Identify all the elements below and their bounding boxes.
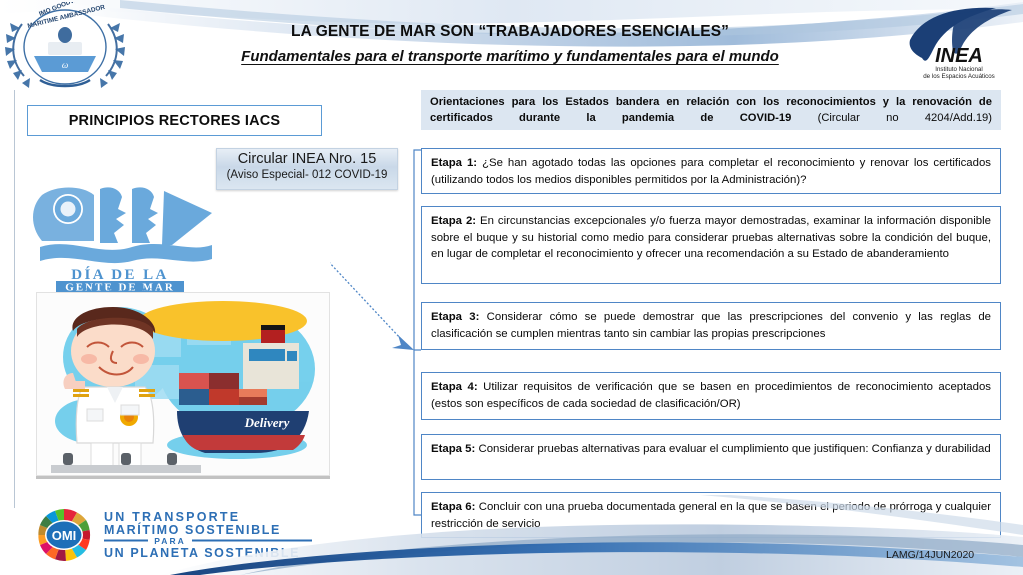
omi-line2: MARÍTIMO SOSTENIBLE	[104, 522, 281, 537]
etapa-text-6: Concluir con una prueba documentada gene…	[431, 501, 991, 530]
connector-arrow	[330, 145, 425, 545]
ship-name-label: Delivery	[244, 415, 290, 430]
orientaciones-banner: Orientaciones para los Estados bandera e…	[421, 90, 1001, 130]
omi-line3: PARA	[154, 536, 185, 546]
etapa-text-1: ¿Se han agotado todas las opciones para …	[431, 157, 991, 186]
principios-rectores-iacs-label: PRINCIPIOS RECTORES IACS	[69, 113, 281, 129]
etapa-label-4: Etapa 4:	[431, 381, 478, 393]
header-title-block: LA GENTE DE MAR SON “TRABAJADORES ESENCI…	[170, 22, 850, 67]
dia-logo-line1: DÍA DE LA	[71, 266, 168, 283]
svg-text:MARITIME AMBASSADOR: MARITIME AMBASSADOR	[27, 4, 106, 30]
banner-plain-text: (Circular no 4204/Add.19)	[818, 112, 992, 124]
principios-rectores-iacs-box: PRINCIPIOS RECTORES IACS	[27, 105, 322, 136]
left-divider	[14, 90, 15, 508]
etapa-label-5: Etapa 5:	[431, 443, 475, 455]
etapa-text-3: Considerar cómo se puede demostrar que l…	[431, 311, 991, 340]
etapa-box-4: Etapa 4: Utilizar requisitos de verifica…	[421, 372, 1001, 420]
omi-line1: UN TRANSPORTE	[104, 510, 240, 524]
footer-note: LAMG/14JUN2020	[886, 549, 974, 561]
svg-text:Instituto Nacional: Instituto Nacional	[935, 66, 982, 73]
etapa-box-1: Etapa 1: ¿Se han agotado todas las opcio…	[421, 148, 1001, 194]
svg-text:de los Espacios Acuáticos: de los Espacios Acuáticos	[923, 73, 995, 80]
etapa-text-4: Utilizar requisitos de verificación que …	[431, 381, 991, 410]
circular-inea-title: Circular INEA Nro. 15	[217, 151, 397, 168]
omi-acronym: OMI	[52, 528, 77, 543]
page-title: LA GENTE DE MAR SON “TRABAJADORES ESENCI…	[170, 22, 850, 43]
circular-inea-subtitle: (Aviso Especial- 012 COVID-19	[217, 169, 397, 183]
etapa-text-5: Considerar pruebas alternativas para eva…	[475, 443, 990, 455]
etapa-box-2: Etapa 2: En circunstancias excepcionales…	[421, 206, 1001, 284]
circular-inea-box: Circular INEA Nro. 15 (Aviso Especial- 0…	[216, 148, 398, 190]
etapa-label-2: Etapa 2:	[431, 215, 476, 227]
inea-acronym: INEA	[935, 45, 983, 67]
etapa-label-6: Etapa 6:	[431, 501, 475, 513]
slide-canvas: ω IMO GOODWILL MARITIME AMBASSADOR LA GE…	[0, 0, 1023, 575]
imo-goodwill-maritime-ambassador-logo: ω IMO GOODWILL MARITIME AMBASSADOR	[4, 2, 126, 90]
etapa-box-5: Etapa 5: Considerar pruebas alternativas…	[421, 434, 1001, 480]
etapa-text-2: En circunstancias excepcionales y/o fuer…	[431, 215, 991, 260]
etapa-label-1: Etapa 1:	[431, 157, 477, 169]
cartoon-shadow	[36, 476, 330, 479]
omi-line4: UN PLANETA SOSTENIBLE	[104, 546, 300, 560]
etapa-box-6: Etapa 6: Concluir con una prueba documen…	[421, 492, 1001, 538]
svg-text:ω: ω	[62, 60, 68, 70]
etapa-box-3: Etapa 3: Considerar cómo se puede demost…	[421, 302, 1001, 350]
etapa-label-3: Etapa 3:	[431, 311, 479, 323]
page-subtitle: Fundamentales para el transporte marítim…	[170, 46, 850, 67]
dia-de-la-gente-de-mar-logo: DÍA DE LA GENTE DE MAR — 25 DE JUNIO —	[22, 183, 218, 293]
sailor-and-container-ship-illustration: Delivery	[36, 292, 330, 476]
omi-sustainable-shipping-logo: OMI UN TRANSPORTE MARÍTIMO SOSTENIBLE PA…	[12, 508, 328, 562]
inea-logo: INEA Instituto Nacional de los Espacios …	[900, 6, 1018, 82]
